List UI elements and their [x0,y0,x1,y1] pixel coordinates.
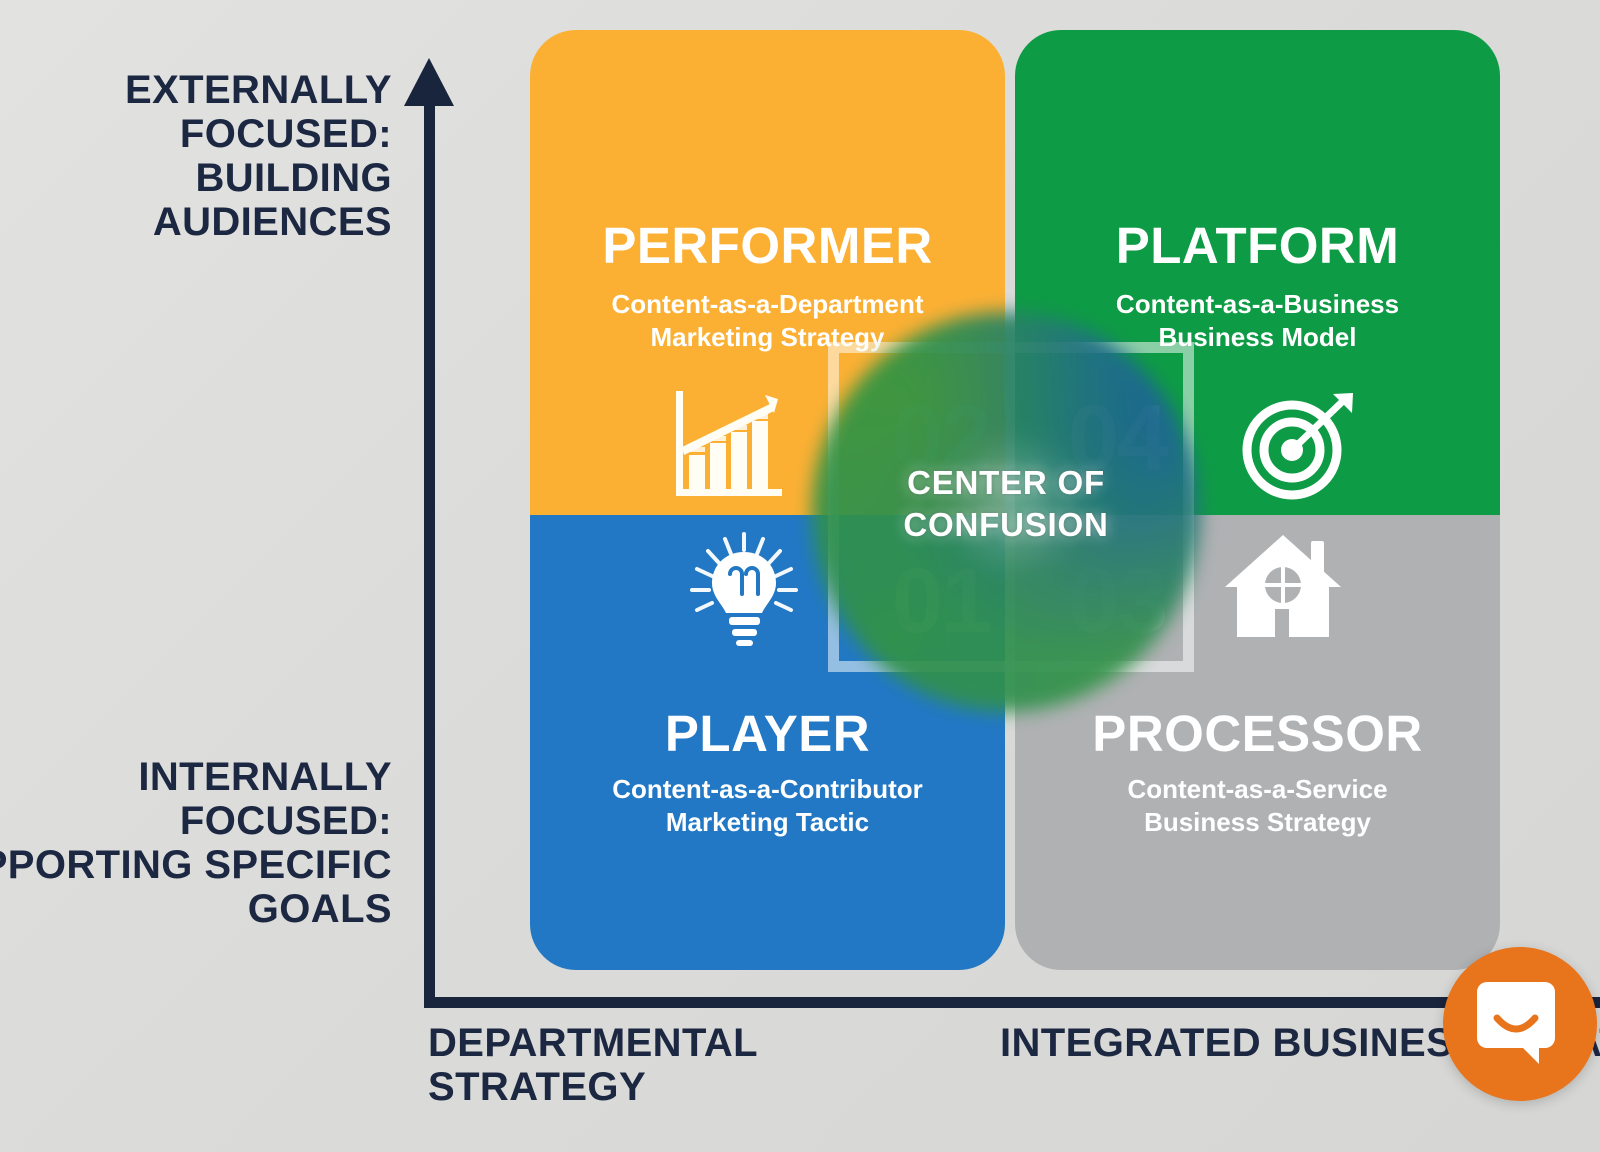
quadrant-performer-title: PERFORMER [530,220,1005,271]
center-label-line1: CENTER OF [812,462,1200,504]
house-icon [1225,525,1345,648]
quadrant-player-subtitle: Content-as-a-Contributor Marketing Tacti… [530,773,1005,840]
quadrant-processor-subtitle-line1: Content-as-a-Service [1015,773,1500,806]
quadrant-processor-title: PROCESSOR [1015,708,1500,759]
quadrant-diagram-canvas: EXTERNALLY FOCUSED: BUILDING AUDIENCES I… [0,0,1600,1152]
center-label-line2: CONFUSION [812,504,1200,546]
quadrant-platform-title: PLATFORM [1015,220,1500,271]
quadrant-platform-subtitle-line1: Content-as-a-Business [1015,288,1500,321]
y-axis-line [424,96,435,1008]
quadrant-player-title: PLAYER [530,708,1005,759]
target-bullseye-icon [1240,390,1358,507]
chat-launcher-button[interactable] [1443,947,1597,1101]
quadrant-player-subtitle-line2: Marketing Tactic [530,806,1005,839]
x-axis-line [424,997,1600,1008]
y-axis-top-label: EXTERNALLY FOCUSED: BUILDING AUDIENCES [0,68,392,244]
x-axis-left-label: DEPARTMENTAL STRATEGY [428,1021,868,1109]
y-axis-bottom-label: INTERNALLY FOCUSED: SUPPORTING SPECIFIC … [0,755,392,931]
lightbulb-icon [685,530,803,653]
quadrant-processor-subtitle: Content-as-a-Service Business Strategy [1015,773,1500,840]
center-of-confusion-label: CENTER OF CONFUSION [812,462,1200,546]
quadrant-player-subtitle-line1: Content-as-a-Contributor [530,773,1005,806]
intercom-chat-icon [1477,978,1563,1071]
y-axis-arrowhead-icon [404,58,454,106]
quadrant-processor-subtitle-line2: Business Strategy [1015,806,1500,839]
bar-chart-growth-icon [670,385,786,508]
quadrant-performer-subtitle-line1: Content-as-a-Department [530,288,1005,321]
